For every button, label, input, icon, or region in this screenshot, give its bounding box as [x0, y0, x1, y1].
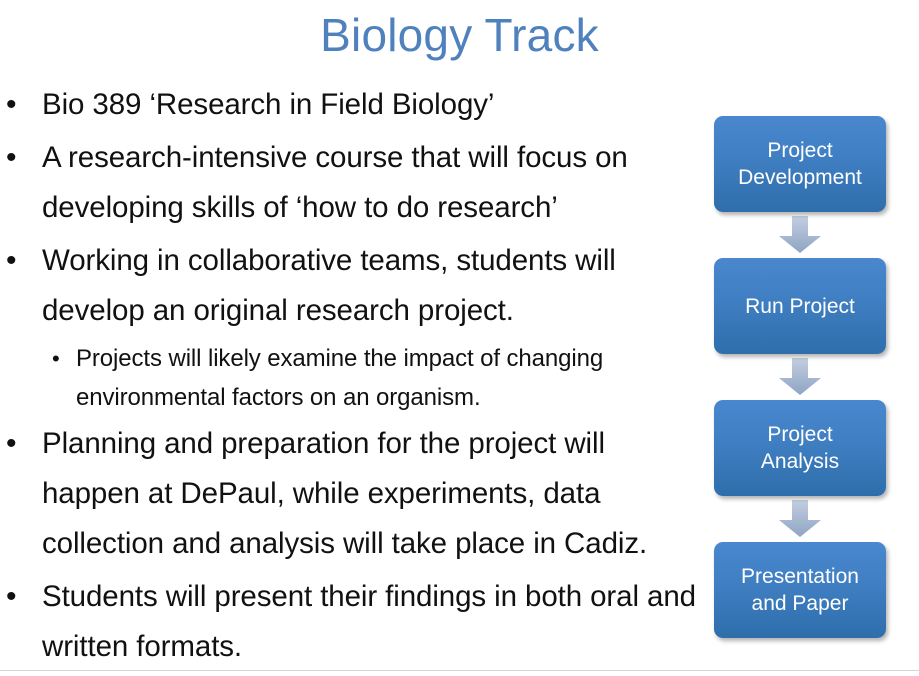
bullet-marker-icon: • [6, 419, 42, 469]
down-arrow-icon [714, 354, 886, 400]
bullet-marker-icon: • [52, 339, 76, 378]
list-item-text: Working in collaborative teams, students… [42, 236, 706, 336]
sub-list-item: • Projects will likely examine the impac… [0, 339, 706, 417]
bullet-marker-icon: • [6, 80, 42, 130]
slide-bottom-divider [0, 670, 919, 671]
down-arrow-icon [714, 212, 886, 258]
down-arrow-icon [714, 496, 886, 542]
bullet-marker-icon: • [6, 236, 42, 286]
list-item: • Bio 389 ‘Research in Field Biology’ [0, 80, 706, 130]
list-item: • Working in collaborative teams, studen… [0, 236, 706, 336]
flow-step-project-analysis: Project Analysis [714, 400, 886, 496]
flow-step-label: Run Project [739, 293, 861, 320]
flow-step-label: Presentation and Paper [735, 563, 865, 617]
flow-step-label: Project Development [732, 137, 868, 191]
process-flow-diagram: Project Development Run Project [714, 116, 886, 638]
list-item: • Planning and preparation for the proje… [0, 419, 706, 569]
list-item: • Students will present their findings i… [0, 572, 706, 672]
bullet-marker-icon: • [6, 572, 42, 622]
flow-step-project-development: Project Development [714, 116, 886, 212]
flow-step-run-project: Run Project [714, 258, 886, 354]
list-item-text: Bio 389 ‘Research in Field Biology’ [42, 80, 706, 130]
flow-step-presentation-and-paper: Presentation and Paper [714, 542, 886, 638]
page-title: Biology Track [0, 6, 919, 64]
list-item-text: Planning and preparation for the project… [42, 419, 706, 569]
bullet-marker-icon: • [6, 133, 42, 183]
list-item-text: Students will present their findings in … [42, 572, 706, 672]
list-item: • A research-intensive course that will … [0, 133, 706, 233]
flow-step-label: Project Analysis [755, 421, 845, 475]
bullet-list: • Bio 389 ‘Research in Field Biology’ • … [0, 80, 706, 675]
sub-list-item-text: Projects will likely examine the impact … [76, 339, 706, 417]
list-item-text: A research-intensive course that will fo… [42, 133, 706, 233]
